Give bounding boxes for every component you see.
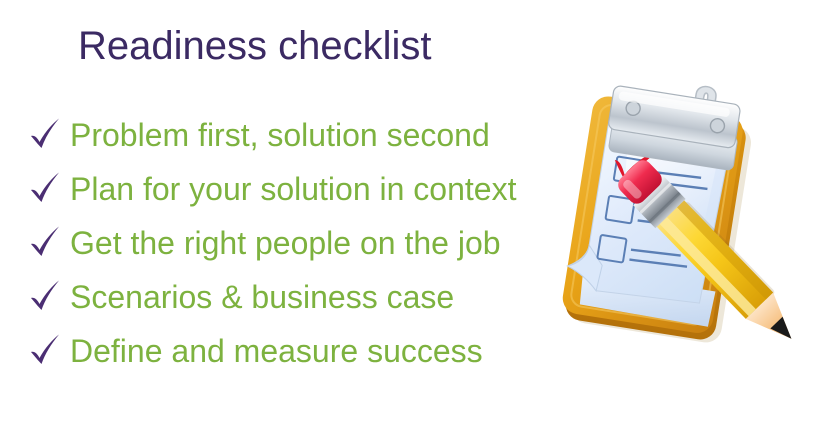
- slide-canvas: Readiness checklist Problem first, solut…: [0, 0, 828, 446]
- check-icon: [26, 277, 66, 317]
- check-icon: [26, 331, 66, 371]
- list-item[interactable]: Define and measure success: [26, 324, 546, 378]
- list-item-label: Scenarios & business case: [70, 280, 454, 314]
- list-item[interactable]: Scenarios & business case: [26, 270, 546, 324]
- clipboard-illustration: [536, 72, 828, 344]
- check-icon: [26, 115, 66, 155]
- list-item-label: Problem first, solution second: [70, 118, 490, 152]
- list-item[interactable]: Get the right people on the job: [26, 216, 546, 270]
- list-item[interactable]: Plan for your solution in context: [26, 162, 546, 216]
- list-item-label: Define and measure success: [70, 334, 483, 368]
- list-item[interactable]: Problem first, solution second: [26, 108, 546, 162]
- check-icon: [26, 169, 66, 209]
- readiness-checklist: Problem first, solution second Plan for …: [26, 108, 546, 378]
- list-item-label: Get the right people on the job: [70, 226, 501, 260]
- page-title: Readiness checklist: [78, 22, 432, 70]
- list-item-label: Plan for your solution in context: [70, 172, 516, 206]
- check-icon: [26, 223, 66, 263]
